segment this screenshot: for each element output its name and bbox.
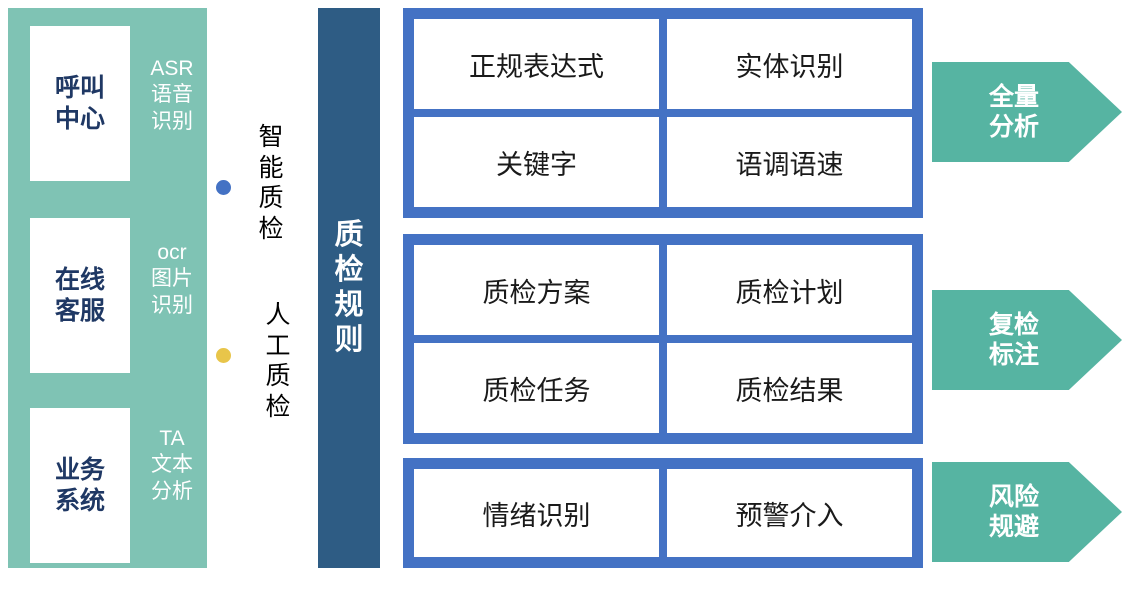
cell-keyword[interactable]: 关键字 bbox=[414, 117, 659, 207]
outcome-arrow-risk-avoidance[interactable]: 风险 规避 bbox=[932, 462, 1122, 562]
cell-qc-task[interactable]: 质检任务 bbox=[414, 343, 659, 433]
cell-tone-speed[interactable]: 语调语速 bbox=[667, 117, 912, 207]
outcome-arrow-full-analysis[interactable]: 全量 分析 bbox=[932, 62, 1122, 162]
qc-rules-bar: 质检 规则 bbox=[318, 8, 380, 568]
source-card-online-service[interactable]: 在线 客服 bbox=[30, 218, 130, 373]
cell-emotion-recognition[interactable]: 情绪识别 bbox=[414, 469, 659, 557]
bullet-label-smart-qc: 智能 质检 bbox=[255, 122, 287, 244]
cell-regex[interactable]: 正规表达式 bbox=[414, 19, 659, 109]
source-card-call-center-label: 呼叫 中心 bbox=[55, 73, 105, 134]
source-systems-panel: 呼叫 中心 在线 客服 业务 系统 ASR 语音 识别 ocr 图片 识别 TA… bbox=[8, 8, 207, 568]
source-card-business-system[interactable]: 业务 系统 bbox=[30, 408, 130, 563]
group-rules: 正规表达式 实体识别 关键字 语调语速 bbox=[403, 8, 923, 218]
bullet-label-manual-qc: 人工 质检 bbox=[262, 300, 294, 422]
bullet-dot-icon-manual-qc bbox=[216, 348, 231, 363]
cell-entity-recognition[interactable]: 实体识别 bbox=[667, 19, 912, 109]
group-emotion: 情绪识别 预警介入 bbox=[403, 458, 923, 568]
tech-label-asr: ASR 语音 识别 bbox=[141, 56, 203, 135]
outcome-arrow-recheck-annotation[interactable]: 复检 标注 bbox=[932, 290, 1122, 390]
diagram-canvas: 呼叫 中心 在线 客服 业务 系统 ASR 语音 识别 ocr 图片 识别 TA… bbox=[0, 0, 1129, 603]
cell-qc-result[interactable]: 质检结果 bbox=[667, 343, 912, 433]
tech-label-ocr: ocr 图片 识别 bbox=[141, 240, 203, 319]
tech-label-ta: TA 文本 分析 bbox=[141, 426, 203, 505]
cell-qc-plan[interactable]: 质检计划 bbox=[667, 245, 912, 335]
outcome-arrow-recheck-annotation-label: 复检 标注 bbox=[989, 310, 1039, 371]
group-plan: 质检方案 质检计划 质检任务 质检结果 bbox=[403, 234, 923, 444]
bullet-dot-icon-smart-qc bbox=[216, 180, 231, 195]
cell-early-warning[interactable]: 预警介入 bbox=[667, 469, 912, 557]
qc-rules-bar-label: 质检 规则 bbox=[332, 218, 366, 357]
source-card-business-system-label: 业务 系统 bbox=[55, 455, 105, 516]
cell-qc-scheme[interactable]: 质检方案 bbox=[414, 245, 659, 335]
source-card-online-service-label: 在线 客服 bbox=[55, 265, 105, 326]
outcome-arrow-risk-avoidance-label: 风险 规避 bbox=[989, 482, 1039, 543]
source-card-call-center[interactable]: 呼叫 中心 bbox=[30, 26, 130, 181]
outcome-arrow-full-analysis-label: 全量 分析 bbox=[989, 82, 1039, 143]
